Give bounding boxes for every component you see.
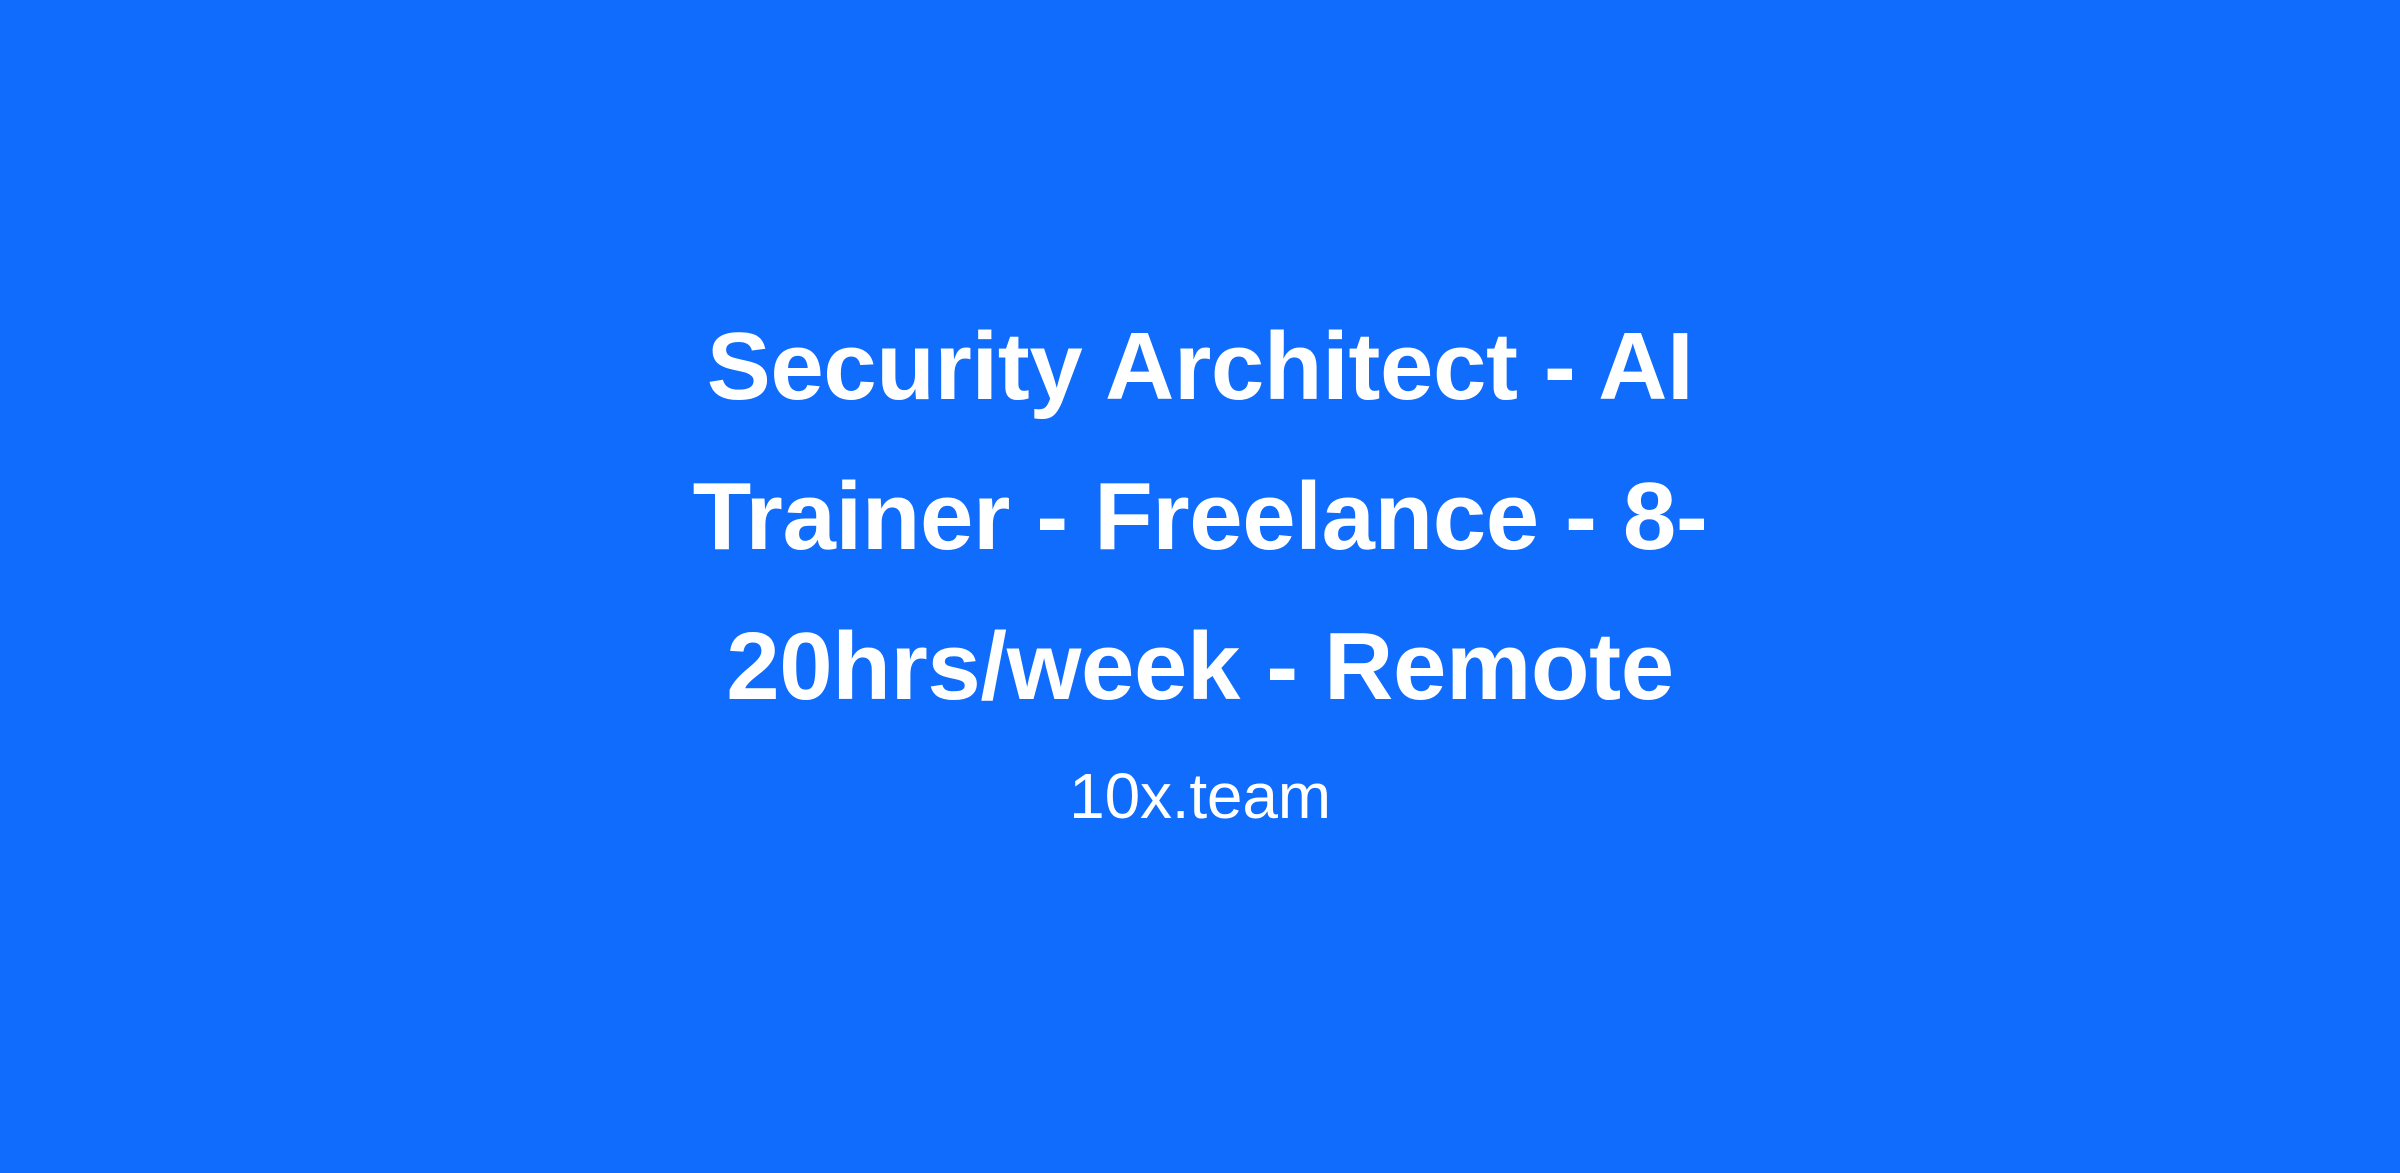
site-name-subtitle: 10x.team — [1069, 758, 1331, 834]
open-graph-card: Security Architect - AI Trainer - Freela… — [0, 0, 2400, 1173]
page-title: Security Architect - AI Trainer - Freela… — [550, 292, 1850, 742]
card-content: Security Architect - AI Trainer - Freela… — [550, 292, 1850, 834]
